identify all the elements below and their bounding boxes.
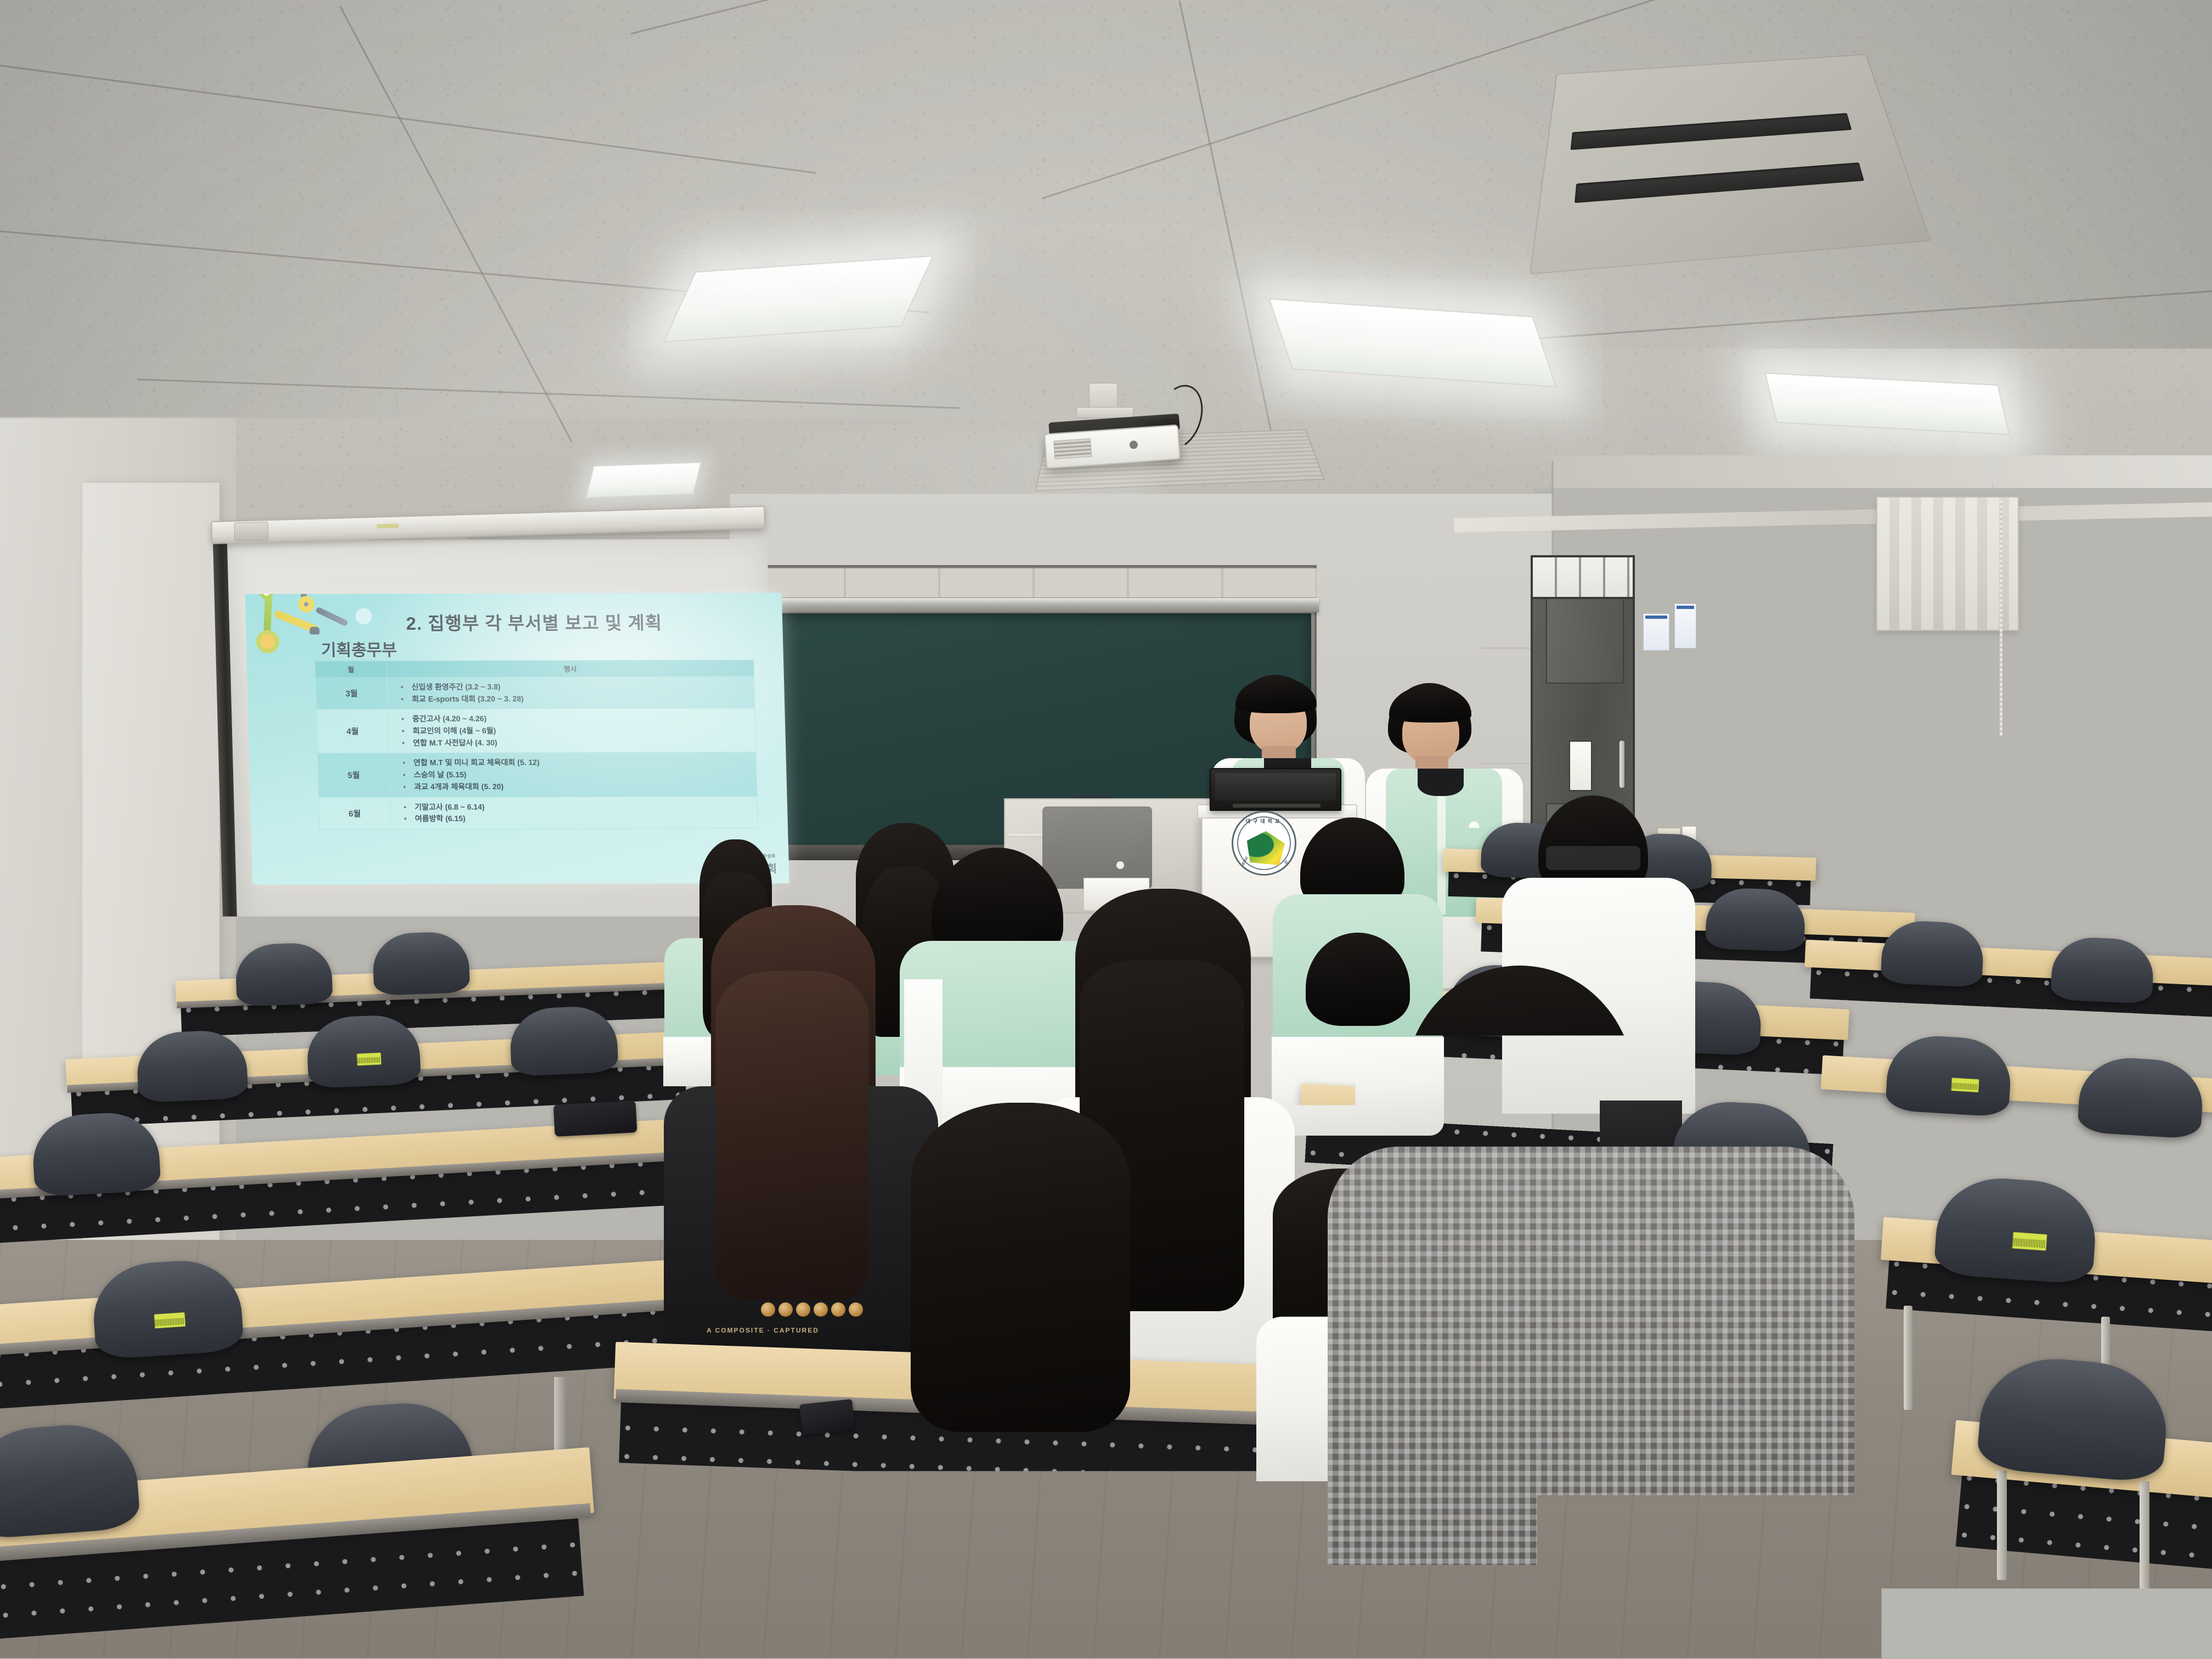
event-item: 신입생 환영주간 (3.2 ~ 3.8)	[411, 680, 754, 693]
projector-mount-arm	[1076, 407, 1133, 418]
window-roller-blind[interactable]	[1876, 496, 2019, 631]
jacket-brand-logo	[1466, 818, 1482, 828]
moon-phase	[796, 1302, 810, 1317]
projector-lens	[1129, 441, 1138, 449]
pull-down-projection-screen: 2. 집행부 각 부서별 보고 및 계획 기획총무부 월 행사 3월	[213, 539, 777, 940]
hvac-vent-slat	[1571, 113, 1852, 150]
audience-checked-shirt	[1328, 1147, 1854, 1659]
column-header-month: 월	[315, 661, 387, 678]
ceiling-light-fixture	[585, 462, 702, 499]
light-switch[interactable]	[1697, 792, 1708, 809]
molecule-node	[256, 630, 279, 653]
light-switch-panel[interactable]	[1665, 779, 1714, 823]
cell-events: 연합 M.T 및 미니 회교 체육대회 (5. 12) 스승의 날 (5.15)…	[389, 752, 757, 797]
chair[interactable]	[372, 931, 470, 996]
hair-long-front	[715, 971, 869, 1300]
notice-header-bar	[1645, 616, 1667, 619]
chair-leg	[1904, 1306, 1912, 1410]
chair[interactable]	[235, 942, 333, 1007]
cell-events: 중간고사 (4.20 ~ 4.26) 회교인의 이해 (4월 ~ 6월) 연합 …	[388, 708, 756, 753]
door-vision-panel	[1569, 741, 1592, 791]
event-item: 연합 M.T 사전답사 (4. 30)	[413, 736, 756, 749]
notice-header-bar	[1677, 606, 1694, 609]
table-header-row: 월 행사	[315, 660, 754, 678]
screen-housing-label	[377, 523, 399, 528]
chalkboard-upper-panels	[752, 568, 1317, 599]
molecule-node	[298, 596, 315, 612]
molecule-node	[355, 608, 372, 624]
molecule-node	[309, 627, 319, 634]
event-item: 중간고사 (4.20 ~ 4.26)	[412, 713, 755, 725]
bag-on-desk	[554, 1101, 637, 1137]
screen-housing-bracket	[234, 522, 269, 541]
event-item: 회교 E-sports 대회 (3.20 ~ 3. 28)	[411, 692, 754, 705]
av-control-panel[interactable]	[1042, 806, 1152, 889]
door-panel	[1546, 592, 1624, 684]
event-item: 회교인의 이해 (4월 ~ 6월)	[413, 724, 755, 737]
transom-mullion	[1533, 557, 1633, 597]
table-row: 3월 신입생 환영주간 (3.2 ~ 3.8) 회교 E-sports 대회 (…	[315, 676, 755, 709]
slide-title: 2. 집행부 각 부서별 보고 및 계획	[405, 608, 662, 635]
wall-notice	[1643, 613, 1669, 651]
event-item: 여름방학 (6.15)	[415, 812, 758, 825]
asset-tag	[154, 1312, 186, 1329]
blind-fabric-folds	[1877, 498, 2018, 630]
ceiling-hvac-unit	[1530, 54, 1931, 275]
hvac-vent-slat	[1575, 162, 1864, 203]
wall-notice	[1674, 603, 1696, 648]
cell-month: 3월	[315, 678, 388, 710]
hair-long-front	[916, 1185, 1125, 1580]
asset-tag	[2012, 1232, 2047, 1251]
slide-schedule-table: 월 행사 3월 신입생 환영주간 (3.2 ~ 3.8) 회교 E-sports…	[315, 659, 758, 830]
emblem-top-text: 대구대학교	[1233, 817, 1295, 825]
event-item: 기말고사 (6.8 ~ 6.14)	[415, 800, 758, 813]
university-emblem: 대구대학교 DAEGU 1956	[1232, 811, 1296, 876]
lecture-room-photo: 2. 집행부 각 부서별 보고 및 계획 기획총무부 월 행사 3월	[0, 0, 2212, 1659]
table-row: 4월 중간고사 (4.20 ~ 4.26) 회교인의 이해 (4월 ~ 6월) …	[317, 708, 756, 753]
cell-month: 5월	[318, 753, 390, 797]
moon-phase	[761, 1302, 775, 1317]
table-row: 6월 기말고사 (6.8 ~ 6.14) 여름방학 (6.15)	[319, 796, 758, 829]
table-row: 5월 연합 M.T 및 미니 회교 체육대회 (5. 12) 스승의 날 (5.…	[318, 752, 757, 797]
door-handle[interactable]	[1620, 741, 1624, 788]
moon-phase	[778, 1302, 793, 1317]
event-list: 기말고사 (6.8 ~ 6.14) 여름방학 (6.15)	[391, 800, 758, 825]
slide-subtitle: 기획총무부	[321, 636, 397, 661]
column-header-event: 행사	[386, 660, 754, 678]
blind-pull-chain[interactable]	[2000, 500, 2002, 736]
moon-phase	[814, 1302, 828, 1317]
event-item: 과교 4개과 체육대회 (5. 20)	[414, 780, 757, 793]
tshirt-caption: A COMPOSITE · CAPTURED	[707, 1327, 819, 1334]
av-panel-knob[interactable]	[1116, 861, 1124, 869]
inner-shirt-collar	[1418, 769, 1464, 796]
cell-month: 4월	[317, 709, 389, 753]
event-list: 중간고사 (4.20 ~ 4.26) 회교인의 이해 (4월 ~ 6월) 연합 …	[388, 713, 755, 749]
laptop-hinge	[1233, 804, 1321, 808]
event-item: 스승의 날 (5.15)	[414, 768, 757, 781]
light-switch[interactable]	[1672, 792, 1683, 809]
cell-month: 6월	[319, 797, 391, 830]
molecule-bond	[315, 606, 348, 627]
event-item: 연합 M.T 및 미니 회교 체육대회 (5. 12)	[413, 757, 756, 769]
moon-phase	[831, 1302, 845, 1317]
chair-leg	[2140, 1481, 2149, 1596]
asset-tag	[1951, 1077, 1979, 1092]
chair-leg	[1997, 1470, 2007, 1580]
projector-vent	[1053, 438, 1092, 460]
chalkboard-rail	[751, 598, 1319, 612]
cell-events: 기말고사 (6.8 ~ 6.14) 여름방학 (6.15)	[390, 796, 758, 829]
glasses-icon	[1546, 846, 1640, 870]
wall-conduit-vertical	[1641, 549, 1650, 785]
cell-events: 신입생 환영주간 (3.2 ~ 3.8) 회교 E-sports 대회 (3.2…	[387, 676, 755, 709]
projected-slide: 2. 집행부 각 부서별 보고 및 계획 기획총무부 월 행사 3월	[245, 592, 789, 884]
laptop-screen	[1215, 773, 1336, 801]
moon-phase	[849, 1302, 863, 1317]
tshirt-moon-phase-graphic	[697, 1300, 927, 1319]
presenter-laptop[interactable]	[1210, 768, 1341, 811]
asset-tag	[357, 1053, 381, 1066]
event-list: 연합 M.T 및 미니 회교 체육대회 (5. 12) 스승의 날 (5.15)…	[389, 757, 757, 793]
screen-surface: 2. 집행부 각 부서별 보고 및 계획 기획총무부 월 행사 3월	[227, 539, 777, 940]
switch-panel-header	[1669, 783, 1711, 787]
event-list: 신입생 환영주간 (3.2 ~ 3.8) 회교 E-sports 대회 (3.2…	[387, 680, 754, 705]
door-transom-window	[1531, 555, 1635, 599]
